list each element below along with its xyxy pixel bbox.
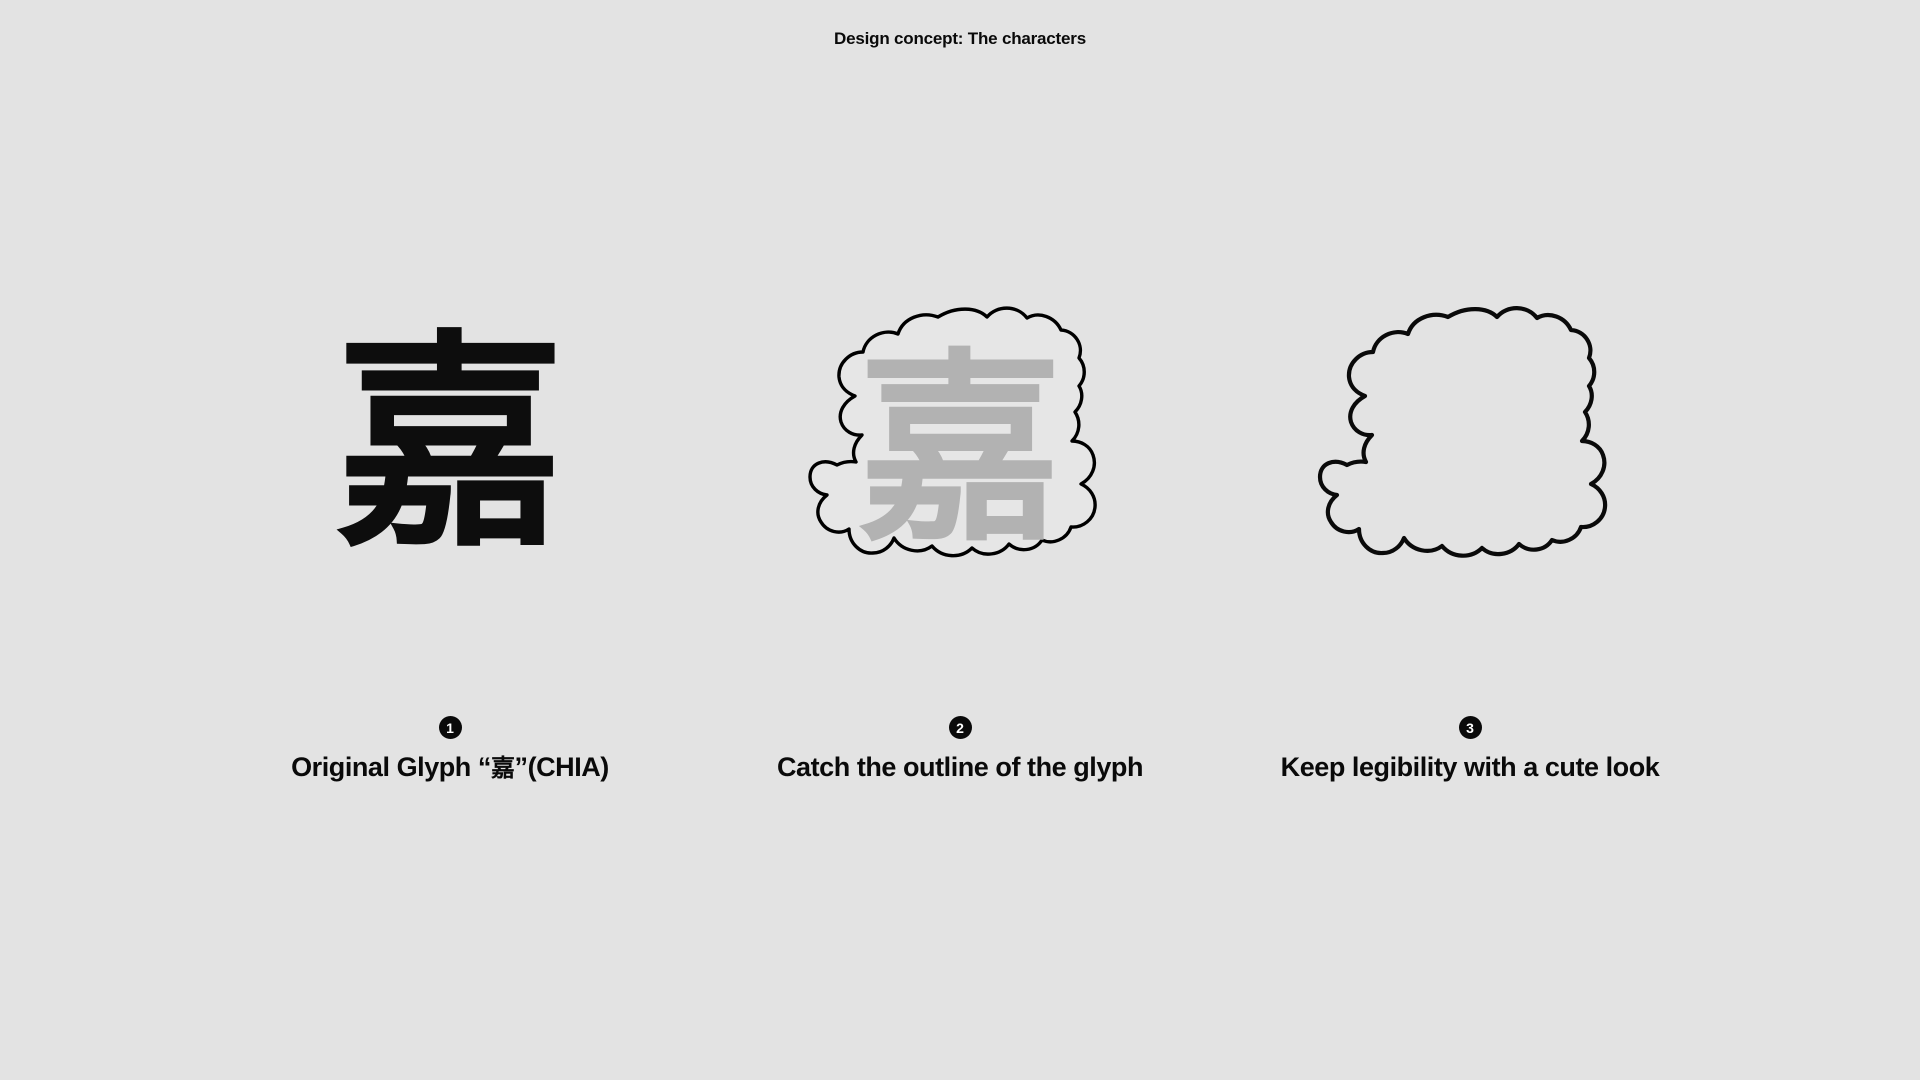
- step-1-caption-text: Original Glyph “嘉”(CHIA): [195, 750, 705, 785]
- step-3-caption-text: Keep legibility with a cute look: [1215, 750, 1725, 784]
- step-2-artwork: 嘉: [750, 300, 1170, 600]
- step-3-caption: 3 Keep legibility with a cute look: [1215, 716, 1725, 784]
- step-1-caption: 1 Original Glyph “嘉”(CHIA): [195, 716, 705, 785]
- caption-suffix: ”(CHIA): [515, 752, 609, 782]
- outline-only-group: [1320, 305, 1620, 595]
- blob-outline-svg: [1320, 305, 1620, 595]
- caption-glyph: 嘉: [491, 753, 515, 782]
- steps-row: 嘉 1 Original Glyph “嘉”(CHIA) 嘉 2: [0, 300, 1920, 800]
- step-1-artwork: 嘉: [240, 300, 660, 600]
- step-panel-1: 嘉 1 Original Glyph “嘉”(CHIA): [195, 300, 705, 600]
- step-badge-3: 3: [1459, 716, 1482, 739]
- outlined-glyph-group: 嘉: [810, 305, 1110, 595]
- original-glyph: 嘉: [335, 329, 565, 559]
- page-title: Design concept: The characters: [0, 29, 1920, 49]
- ghost-glyph: 嘉: [810, 305, 1110, 595]
- step-panel-3: 3 Keep legibility with a cute look: [1215, 300, 1725, 600]
- step-2-caption-text: Catch the outline of the glyph: [705, 750, 1215, 784]
- blob-shape-outline: [1320, 308, 1605, 556]
- caption-prefix: Original Glyph “: [291, 752, 491, 782]
- design-board: Design concept: The characters 嘉 1 Origi…: [0, 0, 1920, 1080]
- step-badge-1: 1: [439, 716, 462, 739]
- step-2-caption: 2 Catch the outline of the glyph: [705, 716, 1215, 784]
- step-panel-2: 嘉 2 Catch the outline of the glyph: [705, 300, 1215, 600]
- step-3-artwork: [1260, 300, 1680, 600]
- step-badge-2: 2: [949, 716, 972, 739]
